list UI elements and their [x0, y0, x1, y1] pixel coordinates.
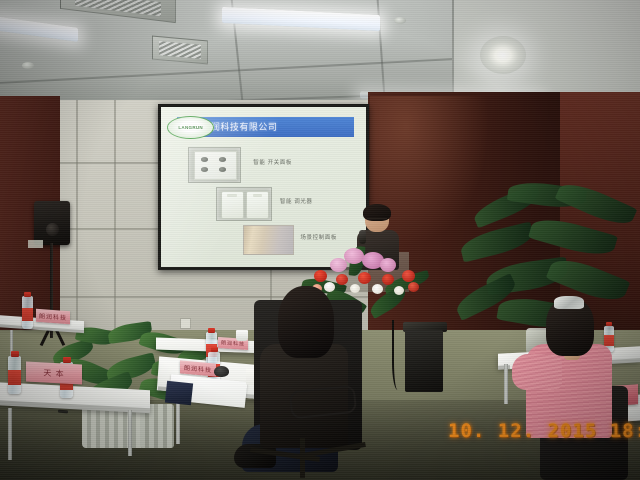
bottle-cap	[24, 292, 31, 297]
slide-caption-2: 智能 调光器	[280, 197, 313, 205]
attendee-arm	[512, 354, 562, 390]
ceiling-light-panel	[222, 7, 380, 31]
name-card: 天 本	[26, 362, 82, 385]
air-vent	[60, 0, 176, 23]
bottle-cap	[211, 347, 218, 352]
water-bottle	[22, 296, 33, 329]
ceiling-light-panel	[0, 16, 78, 42]
flower-bloom-red	[358, 272, 371, 284]
attendee-hair	[278, 286, 334, 358]
bottle-label	[22, 308, 33, 321]
product-face	[194, 151, 237, 180]
camera-timestamp: 10. 12. 2015 18:00	[448, 420, 640, 442]
name-card-text: 朗润科技	[39, 311, 67, 322]
slide-product-image-1	[188, 147, 241, 183]
water-bottle	[8, 356, 21, 394]
projected-slide: 四川朗润科技有限公司 LANGRUN 智能 开关面板 智能 调光器	[161, 107, 366, 267]
conference-room-photo: 四川朗润科技有限公司 LANGRUN 智能 开关面板 智能 调光器	[0, 0, 640, 480]
table-leg	[128, 410, 132, 456]
paper-cup	[236, 330, 248, 341]
hair-clip	[554, 296, 584, 309]
flower-bloom-pink	[380, 258, 396, 272]
recessed-downlight	[480, 36, 526, 74]
company-logo-icon: LANGRUN	[167, 116, 214, 139]
equipment-cable	[392, 320, 406, 390]
microphone-icon	[359, 230, 366, 244]
name-card-text: 天 本	[43, 367, 64, 379]
flower-bloom-red	[336, 274, 348, 285]
flower-bloom-red	[402, 270, 415, 282]
flower-bloom-red	[382, 274, 394, 285]
pa-speaker	[34, 201, 70, 245]
slide-caption-1: 智能 开关面板	[253, 158, 292, 166]
av-equipment	[405, 330, 443, 392]
flower-bloom-pink	[330, 258, 347, 272]
logo-text: LANGRUN	[178, 125, 203, 130]
bottle-cap	[11, 351, 19, 357]
name-card: 朗润科技	[36, 309, 70, 324]
table-leg	[504, 364, 508, 404]
slide-product-image-3	[243, 225, 294, 254]
slide-product-image-2	[216, 187, 271, 221]
table-leg	[8, 408, 12, 460]
switch-dot	[219, 157, 226, 162]
smoke-detector	[394, 17, 406, 24]
air-vent	[152, 36, 208, 65]
bottle-cap	[208, 328, 215, 333]
switch-dot	[201, 157, 208, 162]
computer-mouse	[214, 366, 229, 377]
notebook-cover	[165, 381, 193, 405]
projection-screen: 四川朗润科技有限公司 LANGRUN 智能 开关面板 智能 调光器	[158, 104, 369, 270]
name-card-text: 朗润科技	[184, 363, 212, 374]
switch-dot	[201, 167, 208, 172]
flower-bloom-pink	[344, 248, 364, 264]
flower-bloom-red	[408, 282, 419, 292]
wall-panel-seam	[76, 100, 78, 350]
bottle-cap	[63, 357, 71, 363]
palm-frond	[458, 221, 536, 262]
speaker-cone-icon	[46, 223, 59, 236]
bottle-label	[8, 370, 21, 385]
flower-bloom-red	[314, 270, 327, 282]
speaker-label-tag	[28, 240, 43, 248]
switch-dot	[219, 167, 226, 172]
smoke-detector	[22, 62, 34, 69]
switch-left-half	[221, 191, 244, 220]
glasses-icon	[367, 218, 387, 223]
flower-bloom-white	[394, 286, 404, 295]
slide-caption-3: 场景控制面板	[300, 233, 337, 241]
switch-right-half	[246, 191, 269, 220]
wall-panel-seam	[114, 100, 116, 350]
flower-bloom-white	[372, 284, 383, 294]
